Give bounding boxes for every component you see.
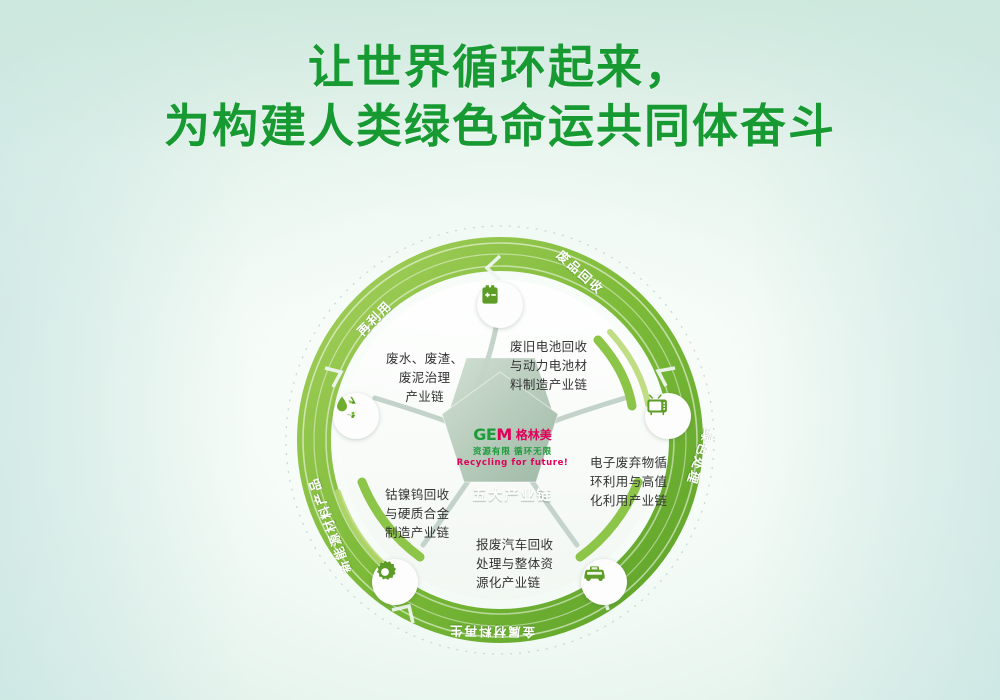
water-recycle-icon: [333, 393, 360, 420]
center-title: 五大产业链: [473, 485, 553, 505]
logo-slogan-cn: 资源有限 循环无限: [473, 445, 552, 457]
segment-label-alloy: 钴镍钨回收 与硬质合金 制造产业链: [385, 486, 450, 542]
segment-icon-e-waste[interactable]: [645, 393, 691, 439]
tv-icon: [645, 393, 671, 419]
headline-line-2: 为构建人类绿色命运共同体奋斗: [0, 97, 1000, 156]
segment-icon-battery[interactable]: [477, 282, 523, 328]
battery-icon: [477, 282, 503, 308]
segment-icon-vehicle[interactable]: [581, 559, 627, 605]
segment-label-water: 废水、废渣、 废泥治理 产业链: [386, 350, 463, 406]
headline-line-1: 让世界循环起来，: [0, 38, 1000, 97]
segment-label-e-waste: 电子废弃物循 环利用与高值 化利用产业链: [590, 454, 667, 510]
segment-label-vehicle: 报废汽车回收 处理与整体资 源化产业链: [476, 536, 553, 592]
center-logo-block: GEM 格林美 资源有限 循环无限 Recycling for future! …: [455, 425, 570, 510]
segment-icon-alloy[interactable]: [372, 559, 418, 605]
segment-label-battery: 废旧电池回收 与动力电池材 料制造产业链: [510, 338, 587, 394]
logo-slogan-en: Recycling for future!: [457, 458, 569, 468]
page-title: 让世界循环起来， 为构建人类绿色命运共同体奋斗: [0, 38, 1000, 156]
logo-gem-text: GEM: [473, 425, 511, 444]
ring-word-metal-regeneration: 金属材料再生: [448, 622, 535, 643]
gear-icon: [372, 559, 398, 585]
segment-icon-water[interactable]: [333, 393, 379, 439]
brand-logo: GEM 格林美: [473, 425, 552, 444]
logo-chinese-name: 格林美: [516, 426, 552, 443]
car-icon: [581, 559, 608, 586]
